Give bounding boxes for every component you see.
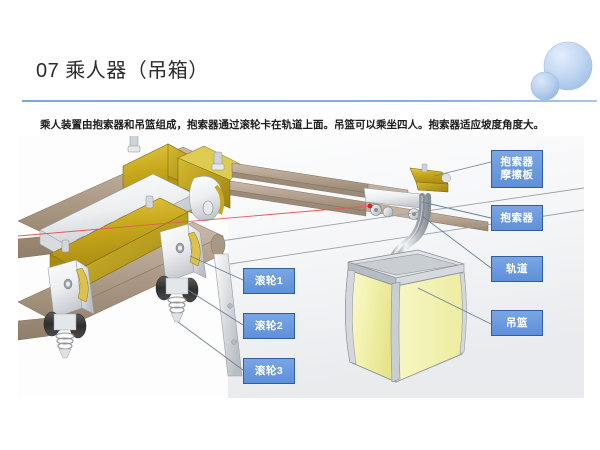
callout-box[interactable]: 轨道 bbox=[491, 256, 543, 282]
slide-title: 07 乘人器（吊箱） bbox=[36, 58, 209, 84]
slide-subtitle: 乘人装置由抱索器和吊篮组成，抱索器通过滚轮卡在轨道上面。吊篮可以乘坐四人。抱索器… bbox=[40, 118, 570, 132]
decoration-circle-small bbox=[531, 72, 559, 100]
decoration-circles-svg bbox=[508, 34, 600, 108]
callout-box[interactable]: 滚轮1 bbox=[243, 268, 295, 294]
slide-canvas: 07 乘人器（吊箱） 乘人装置由抱索器和吊篮组成，抱索器通过滚轮卡在轨道上面。吊… bbox=[0, 0, 600, 450]
callout-box[interactable]: 抱索器 bbox=[491, 205, 543, 231]
callout-box[interactable]: 滚轮3 bbox=[243, 358, 295, 384]
title-underline-rule bbox=[22, 100, 597, 102]
decoration-circle-large bbox=[544, 42, 592, 90]
callout-box[interactable]: 滚轮2 bbox=[243, 313, 295, 339]
callout-box[interactable]: 抱索器 摩擦板 bbox=[491, 150, 543, 188]
header-decoration bbox=[508, 34, 600, 108]
callout-box[interactable]: 吊篮 bbox=[491, 310, 543, 336]
